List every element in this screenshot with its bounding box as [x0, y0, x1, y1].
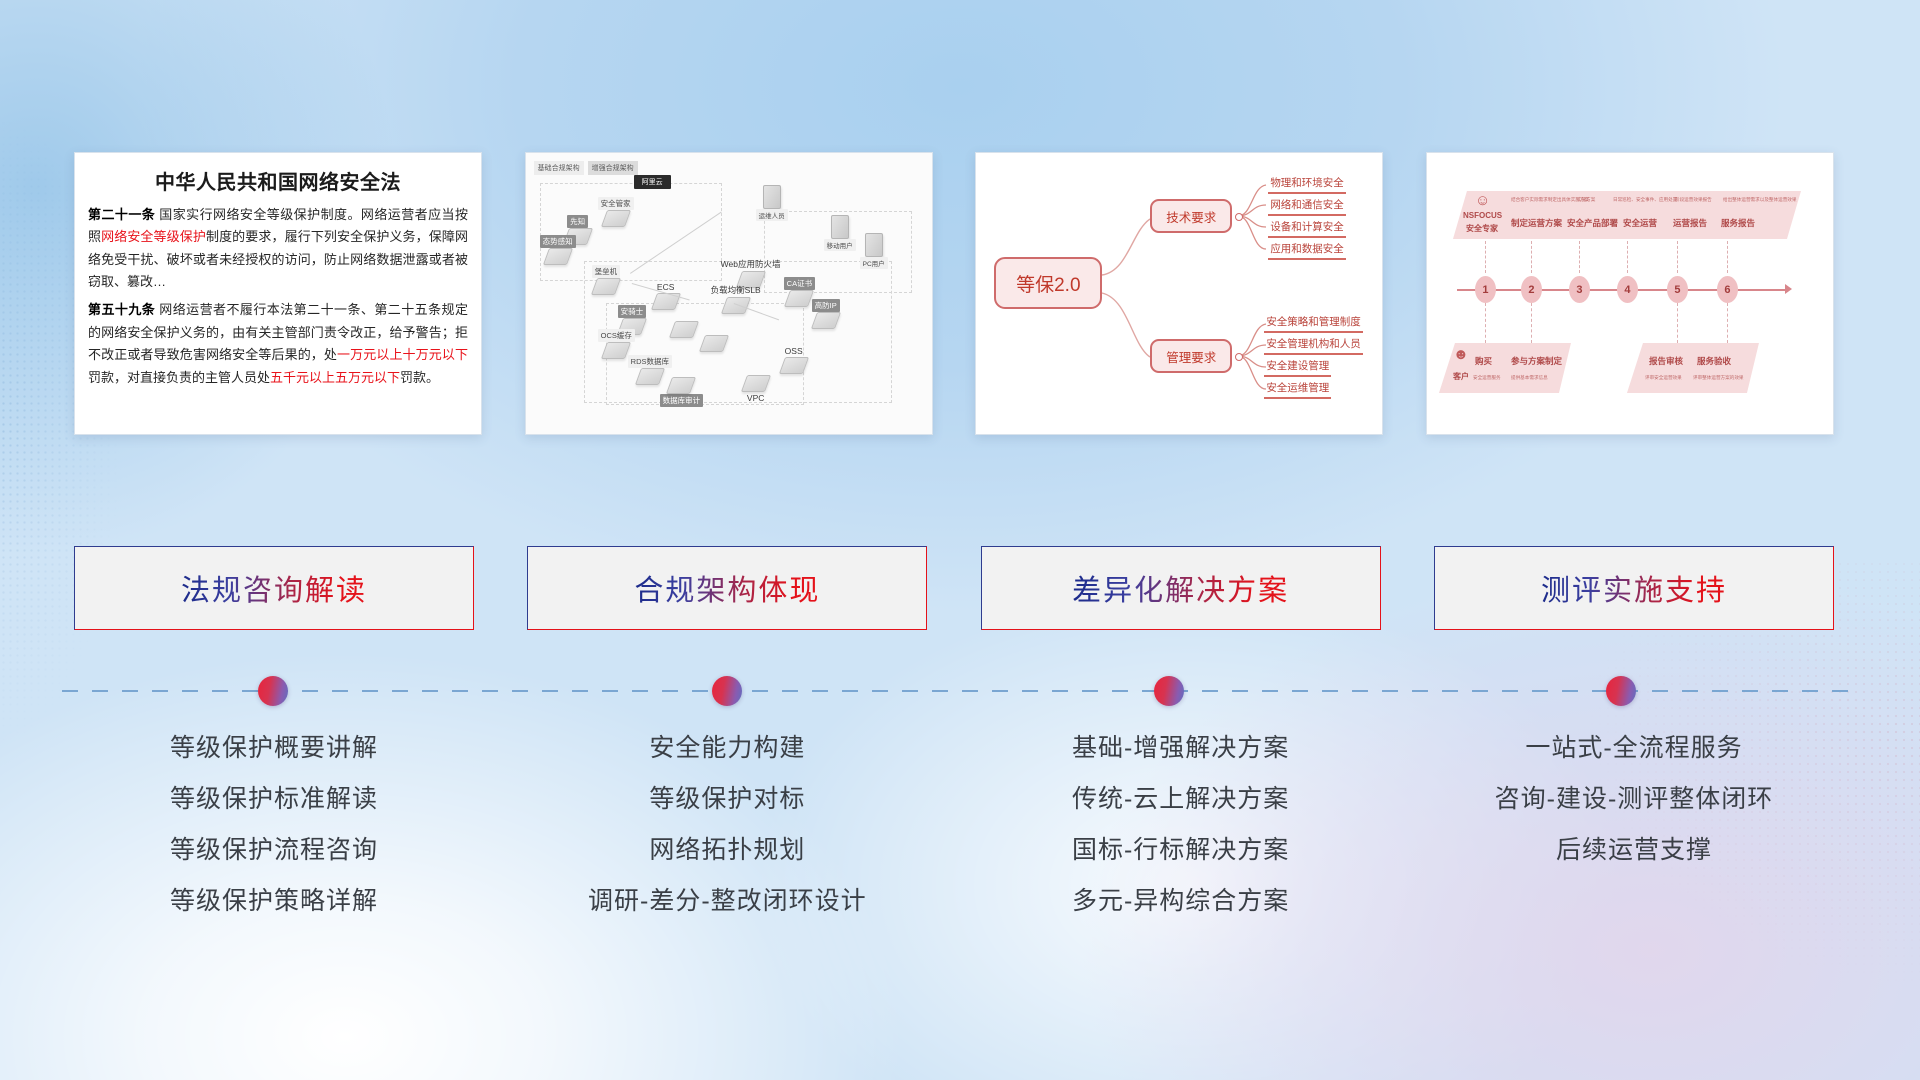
bullet-columns: 等级保护概要讲解 等级保护标准解读 等级保护流程咨询 等级保护策略详解 安全能力…	[74, 736, 1834, 940]
timeline-node-dot-4[interactable]	[1606, 676, 1636, 706]
timeline-top-caption-1[interactable]: 制定运营方案	[1511, 217, 1562, 229]
preview-card-row: 中华人民共和国网络安全法 第二十一条 国家实行网络安全等级保护制度。网络运营者应…	[74, 152, 1834, 442]
arch-node-vpc[interactable]: VPC	[744, 375, 768, 404]
mindmap-leaf-construction-mgmt[interactable]: 安全建设管理	[1264, 358, 1331, 377]
law-article-59: 第五十九条 网络运营者不履行本法第二十一条、第二十五条规定的网络安全保护义务的，…	[88, 299, 468, 388]
timeline-arrow-icon	[1785, 284, 1792, 294]
timeline-step-1[interactable]: 1	[1475, 276, 1496, 303]
arch-node-bastion-host[interactable]: 堡垒机	[592, 265, 621, 295]
arch-node-slb[interactable]: 负载均衡SLB	[708, 283, 764, 314]
list-item: 咨询-建设-测评整体闭环	[1434, 787, 1834, 812]
timeline-top-caption-5[interactable]: 服务报告	[1721, 217, 1755, 229]
timeline-bottom-caption-2[interactable]: 参与方案制定	[1511, 355, 1562, 367]
law-article-59-text-2: 罚款，对直接负责的主管人员处	[88, 370, 270, 385]
title-label-compliance-architecture: 合规架构体现	[634, 567, 820, 609]
timeline-top-caption-4[interactable]: 运营报告	[1673, 217, 1707, 229]
timeline-node-dot-2[interactable]	[712, 676, 742, 706]
timeline-node-dot-3[interactable]	[1154, 676, 1184, 706]
timeline-band-bottom-right	[1627, 343, 1759, 393]
title-box-differentiated-solution[interactable]: 差异化解决方案	[981, 546, 1381, 630]
mindmap-leaf-app-data[interactable]: 应用和数据安全	[1268, 241, 1346, 260]
mindmap-leaf-org-personnel[interactable]: 安全管理机构和人员	[1264, 336, 1363, 355]
list-item: 等级保护概要讲解	[74, 736, 474, 761]
list-item: 安全能力构建	[527, 736, 927, 761]
list-item: 多元-异构综合方案	[981, 889, 1381, 914]
timeline-bottom-caption-1[interactable]: 购买	[1475, 355, 1492, 367]
law-body: 第二十一条 国家实行网络安全等级保护制度。网络运营者应当按照网络安全等级保护制度…	[75, 204, 481, 389]
expert-avatar-icon: ☺	[1475, 193, 1490, 208]
list-item: 一站式-全流程服务	[1434, 736, 1834, 761]
timeline-step-3[interactable]: 3	[1569, 276, 1590, 303]
arch-node-anti-ddos-ip[interactable]: 高防IP	[812, 299, 840, 329]
arch-node-ca-certificate[interactable]: CA证书	[784, 277, 815, 307]
timeline-top-caption-2[interactable]: 安全产品部署	[1567, 217, 1618, 229]
bullet-column-compliance-architecture: 安全能力构建 等级保护对标 网络拓扑规划 调研-差分-整改闭环设计	[527, 736, 927, 940]
card-service-timeline[interactable]: ☺ NSFOCUS 安全专家 ☻ 客户 结合客户实际需求制定出具体实施方案 实施…	[1426, 152, 1834, 435]
list-item: 后续运营支撑	[1434, 838, 1834, 863]
law-fine-amount-2: 五千元以上五万元以下	[270, 370, 400, 385]
bullet-column-assessment-support: 一站式-全流程服务 咨询-建设-测评整体闭环 后续运营支撑	[1434, 736, 1834, 940]
law-article-21-label: 第二十一条	[88, 207, 155, 222]
arch-node-oss[interactable]: OSS	[782, 345, 806, 374]
timeline-node-dot-1[interactable]	[258, 676, 288, 706]
mindmap-leaf-ops-mgmt[interactable]: 安全运维管理	[1264, 380, 1331, 399]
card-mindmap-dengbao[interactable]: 等保2.0 技术要求 管理要求 物理和环境安全 网络和通信安全 设备和计算安全 …	[975, 152, 1383, 435]
bullet-column-regulation-consulting: 等级保护概要讲解 等级保护标准解读 等级保护流程咨询 等级保护策略详解	[74, 736, 474, 940]
customer-avatar-icon: ☻	[1453, 347, 1469, 362]
bullet-column-differentiated-solution: 基础-增强解决方案 传统-云上解决方案 国标-行标解决方案 多元-异构综合方案	[981, 736, 1381, 940]
arch-node-extra-instance[interactable]	[702, 335, 726, 352]
arch-node-db-audit[interactable]: 数据库审计	[660, 377, 704, 407]
timeline-dashed-line	[62, 690, 1852, 692]
law-article-59-label: 第五十九条	[88, 302, 155, 317]
timeline-brand: NSFOCUS	[1463, 211, 1502, 220]
mindmap-leaf-network-comm[interactable]: 网络和通信安全	[1268, 197, 1346, 216]
list-item: 等级保护对标	[527, 787, 927, 812]
timeline-step-4[interactable]: 4	[1617, 276, 1638, 303]
list-item: 等级保护流程咨询	[74, 838, 474, 863]
architecture-canvas: 基础合规架构 增强合规架构 阿里云 安全管家 先知 态势感知 运维人员 堡垒机 …	[526, 153, 932, 434]
timeline-bottom-sub-3: 评审安全运营效果	[1645, 375, 1682, 381]
timeline-step-2[interactable]: 2	[1521, 276, 1542, 303]
arch-node-security-butler[interactable]: 安全管家	[598, 197, 634, 227]
arch-node-pc-user[interactable]: PC用户	[860, 233, 888, 269]
list-item: 等级保护策略详解	[74, 889, 474, 914]
mindmap-branch-technical[interactable]: 技术要求	[1150, 199, 1232, 233]
title-box-compliance-architecture[interactable]: 合规架构体现	[527, 546, 927, 630]
card-cloud-architecture[interactable]: 基础合规架构 增强合规架构 阿里云 安全管家 先知 态势感知 运维人员 堡垒机 …	[525, 152, 933, 435]
title-label-differentiated-solution: 差异化解决方案	[1072, 567, 1289, 609]
timeline-customer: 客户	[1453, 371, 1469, 382]
mindmap-branch-management[interactable]: 管理要求	[1150, 339, 1232, 373]
mindmap-root-node[interactable]: 等保2.0	[994, 257, 1102, 309]
timeline-brand-sub: 安全专家	[1466, 223, 1498, 234]
timeline-bottom-sub-1: 安全运营服务	[1473, 375, 1501, 381]
arch-tab-basic[interactable]: 基础合规架构	[534, 161, 584, 175]
card-law-document[interactable]: 中华人民共和国网络安全法 第二十一条 国家实行网络安全等级保护制度。网络运营者应…	[74, 152, 482, 435]
timeline-top-sub-5: 给出整体运营需求以及整体运营效果	[1723, 197, 1797, 203]
arch-badge-cloud: 阿里云	[634, 175, 671, 189]
arch-node-ops-staff[interactable]: 运维人员	[756, 185, 788, 221]
arch-node-situation-awareness[interactable]: 态势感知	[540, 235, 576, 265]
timeline-top-sub-2: 实施方案	[1577, 197, 1595, 203]
timeline-step-6[interactable]: 6	[1717, 276, 1738, 303]
timeline-step-5[interactable]: 5	[1667, 276, 1688, 303]
list-item: 调研-差分-整改闭环设计	[527, 889, 927, 914]
law-article-21-highlight: 网络安全等级保护	[101, 229, 206, 244]
law-article-59-text-3: 罚款。	[400, 370, 439, 385]
section-title-row: 法规咨询解读 合规架构体现 差异化解决方案 测评实施支持	[74, 546, 1834, 630]
mindmap-leaf-device-compute[interactable]: 设备和计算安全	[1268, 219, 1346, 238]
arch-tab-enhanced[interactable]: 增强合规架构	[588, 161, 638, 175]
timeline-bottom-caption-3[interactable]: 报告审核	[1649, 355, 1683, 367]
timeline-bottom-sub-4: 评审整体运营方案的效果	[1693, 375, 1744, 381]
list-item: 等级保护标准解读	[74, 787, 474, 812]
arch-node-mobile-user[interactable]: 移动用户	[824, 215, 856, 251]
timeline-top-sub-4: 阶段运营效果报告	[1675, 197, 1712, 203]
timeline-top-caption-3[interactable]: 安全运营	[1623, 217, 1657, 229]
list-item: 传统-云上解决方案	[981, 787, 1381, 812]
title-label-regulation-consulting: 法规咨询解读	[181, 567, 367, 609]
law-article-21: 第二十一条 国家实行网络安全等级保护制度。网络运营者应当按照网络安全等级保护制度…	[88, 204, 468, 293]
timeline-bottom-sub-2: 提供基本需求信息	[1511, 375, 1548, 381]
timeline-top-sub-3: 日常巡检、安全事件、应用处置	[1613, 197, 1677, 203]
mindmap-leaf-physical-env[interactable]: 物理和环境安全	[1268, 175, 1346, 194]
mindmap-canvas: 等保2.0 技术要求 管理要求 物理和环境安全 网络和通信安全 设备和计算安全 …	[976, 153, 1382, 434]
mindmap-leaf-policy-system[interactable]: 安全策略和管理制度	[1264, 314, 1363, 333]
list-item: 基础-增强解决方案	[981, 736, 1381, 761]
list-item: 网络拓扑规划	[527, 838, 927, 863]
title-label-assessment-support: 测评实施支持	[1541, 567, 1727, 609]
list-item: 国标-行标解决方案	[981, 838, 1381, 863]
timeline-canvas: ☺ NSFOCUS 安全专家 ☻ 客户 结合客户实际需求制定出具体实施方案 实施…	[1427, 153, 1833, 434]
title-box-regulation-consulting[interactable]: 法规咨询解读	[74, 546, 474, 630]
arch-node-ecs-security-group[interactable]	[672, 321, 696, 338]
title-box-assessment-support[interactable]: 测评实施支持	[1434, 546, 1834, 630]
law-fine-amount-1: 一万元以上十万元以下	[337, 347, 468, 362]
law-title: 中华人民共和国网络安全法	[75, 166, 481, 195]
timeline-bottom-caption-4[interactable]: 服务验收	[1697, 355, 1731, 367]
